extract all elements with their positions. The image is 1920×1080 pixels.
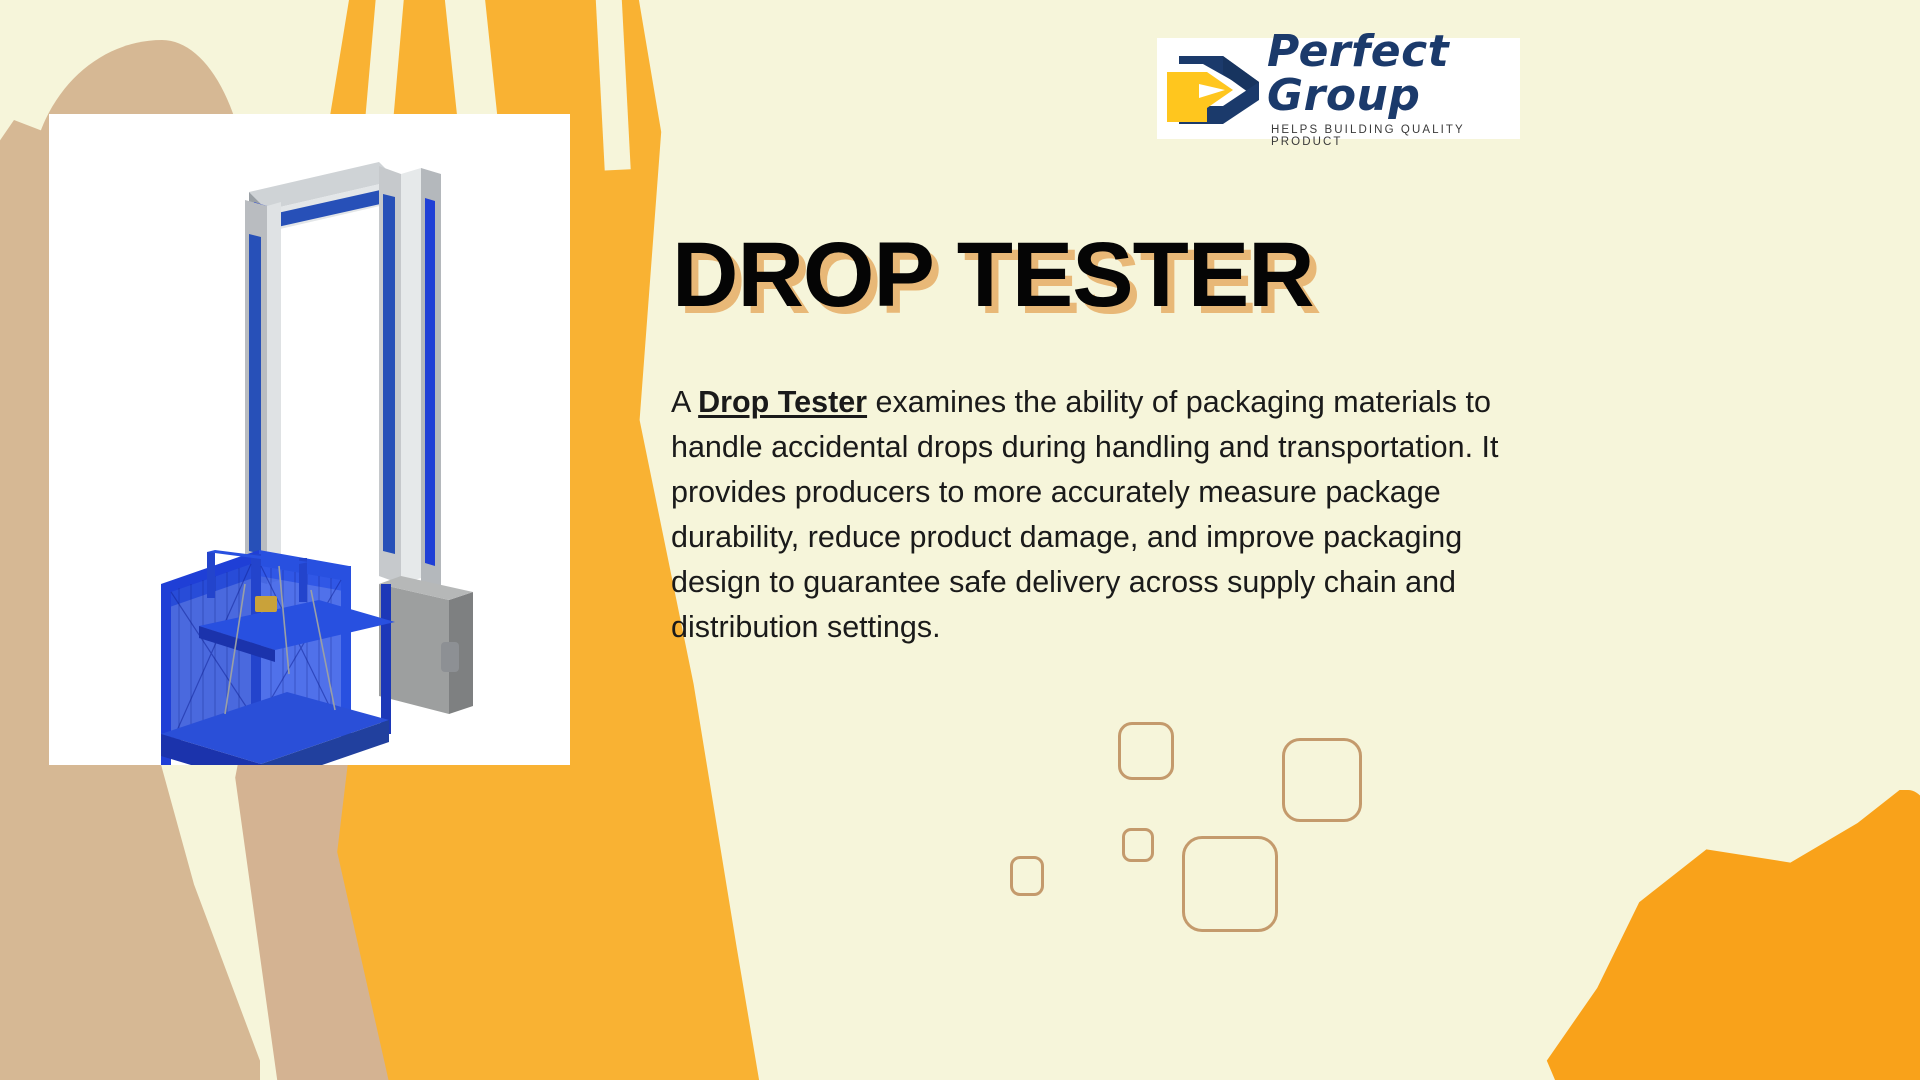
decorative-rounded-square [1122,828,1154,862]
page-title: DROP TESTER [672,229,1314,321]
drop-tester-machine-illustration [49,114,570,765]
paragraph-rest: examines the ability of packaging materi… [671,385,1498,644]
paragraph-lead: A [671,385,698,419]
logo-text-block: Perfect Group HELPS BUILDING QUALITY PRO… [1267,30,1520,148]
description-paragraph: A Drop Tester examines the ability of pa… [671,380,1513,650]
perfect-group-logo-icon [1161,50,1265,128]
decorative-rounded-square [1010,856,1044,896]
slide-root: Perfect Group HELPS BUILDING QUALITY PRO… [0,0,1920,1080]
orange-blob-bottom-right [1530,790,1920,1080]
brand-logo[interactable]: Perfect Group HELPS BUILDING QUALITY PRO… [1157,38,1520,139]
decorative-rounded-square [1118,722,1174,780]
product-photo-card [49,114,570,765]
paragraph-highlight-term: Drop Tester [698,385,867,419]
logo-brand-name: Perfect Group [1267,30,1520,118]
product-photo [49,114,570,765]
logo-tagline: HELPS BUILDING QUALITY PRODUCT [1271,124,1520,148]
decorative-rounded-square [1182,836,1278,932]
decorative-rounded-square [1282,738,1362,822]
